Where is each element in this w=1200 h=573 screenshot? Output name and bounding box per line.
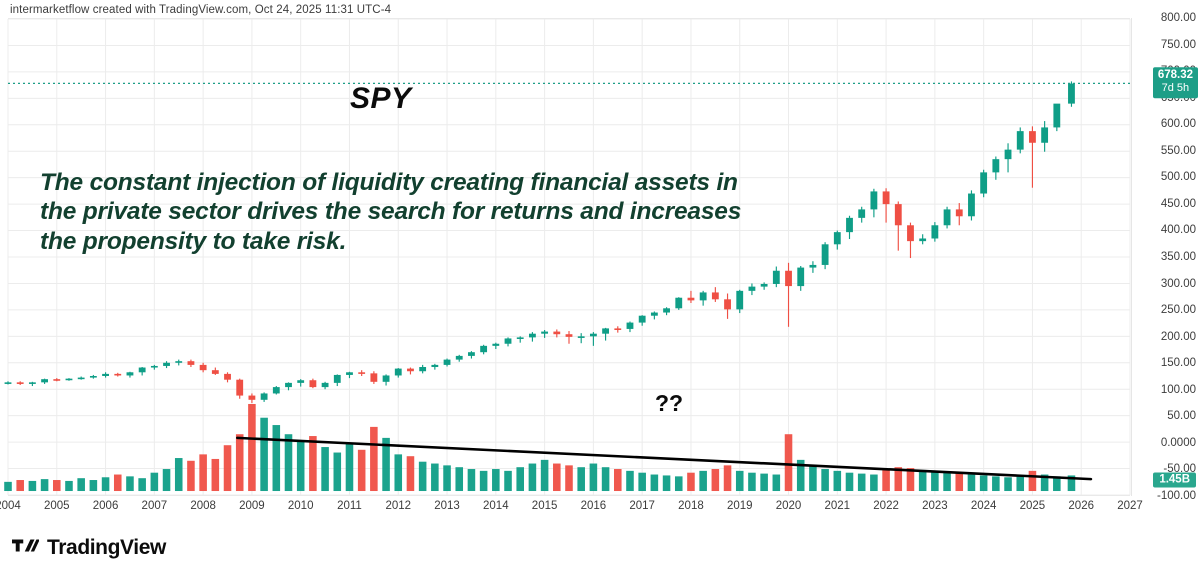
volume-bar xyxy=(821,469,829,491)
candle-body xyxy=(1029,131,1036,143)
candle-body xyxy=(346,372,353,375)
price-tick: 800.00 xyxy=(1161,12,1196,24)
date-tick: 2020 xyxy=(776,500,802,512)
volume-bar xyxy=(419,462,427,491)
volume-bar xyxy=(968,475,976,491)
date-tick: 2021 xyxy=(825,500,851,512)
volume-bar xyxy=(309,436,317,491)
candle-body xyxy=(5,382,12,384)
volume-bar xyxy=(65,481,73,491)
candle-body xyxy=(980,172,987,193)
candle-body xyxy=(956,209,963,216)
candle-body xyxy=(736,291,743,310)
volume-bar xyxy=(748,473,756,491)
candle-body xyxy=(566,334,573,337)
date-tick: 2023 xyxy=(922,500,948,512)
volume-bar xyxy=(102,477,110,491)
candle-body xyxy=(578,336,585,338)
volume-bar xyxy=(175,458,183,491)
date-tick: 2013 xyxy=(434,500,460,512)
candle-body xyxy=(114,374,121,376)
candle-body xyxy=(907,225,914,241)
volume-bar xyxy=(455,467,463,491)
volume-bar xyxy=(529,464,537,491)
volume-bar xyxy=(285,434,293,491)
volume-bar xyxy=(980,475,988,491)
date-tick: 2006 xyxy=(93,500,119,512)
date-tick: 2014 xyxy=(483,500,509,512)
candle-body xyxy=(383,375,390,381)
candle-body xyxy=(236,380,243,396)
volume-bar xyxy=(724,465,732,491)
candle-body xyxy=(724,299,731,309)
volume-bar xyxy=(321,447,329,491)
volume-bar xyxy=(346,443,354,491)
volume-bar xyxy=(687,473,695,491)
volume-bar xyxy=(297,441,305,491)
price-tick: 450.00 xyxy=(1161,198,1196,210)
candle-body xyxy=(90,376,97,378)
price-tick: 350.00 xyxy=(1161,251,1196,263)
date-tick: 2008 xyxy=(190,500,216,512)
tradingview-chart: intermarketflow created with TradingView… xyxy=(0,0,1200,573)
volume-bar xyxy=(151,473,159,491)
candle-body xyxy=(614,328,621,330)
date-tick: 2017 xyxy=(629,500,655,512)
candle-body xyxy=(822,244,829,265)
volume-bar xyxy=(955,474,963,491)
candle-body xyxy=(78,378,85,380)
volume-bar xyxy=(4,482,12,491)
candle-body xyxy=(809,265,816,268)
candle-body xyxy=(248,396,255,400)
volume-bar xyxy=(943,473,951,491)
candle-body xyxy=(273,387,280,393)
volume-value-badge[interactable]: 1.45B xyxy=(1153,473,1196,488)
date-tick: 2012 xyxy=(385,500,411,512)
volume-bar xyxy=(138,478,146,491)
volume-bar xyxy=(785,434,793,491)
volume-bar xyxy=(614,469,622,491)
volume-bar xyxy=(334,453,342,491)
price-tick: -100.00 xyxy=(1157,490,1196,502)
date-tick: 2015 xyxy=(532,500,558,512)
candle-body xyxy=(444,360,451,365)
candle-body xyxy=(407,369,414,372)
volume-bar xyxy=(541,460,549,491)
date-tick: 2026 xyxy=(1068,500,1094,512)
price-tick: 300.00 xyxy=(1161,278,1196,290)
volume-bar xyxy=(712,469,720,491)
candle-body xyxy=(322,383,329,387)
candle-body xyxy=(66,379,73,381)
candle-body xyxy=(151,366,158,368)
date-tick: 2009 xyxy=(239,500,265,512)
volume-bar xyxy=(273,425,281,491)
candle-body xyxy=(834,232,841,244)
volume-bar xyxy=(577,467,585,491)
candle-body xyxy=(663,308,670,312)
candle-body xyxy=(370,373,377,381)
volume-bar xyxy=(41,479,49,491)
date-tick: 2016 xyxy=(581,500,607,512)
volume-bar xyxy=(834,471,842,491)
candle-body xyxy=(395,369,402,376)
volume-bar xyxy=(77,478,85,491)
volume-bar xyxy=(224,445,232,491)
date-tick: 2004 xyxy=(0,500,21,512)
symbol-label: SPY xyxy=(350,82,412,116)
volume-bar xyxy=(882,469,890,491)
candle-body xyxy=(1005,150,1012,160)
tradingview-wordmark: TradingView xyxy=(47,536,166,560)
candle-body xyxy=(858,209,865,217)
volume-bar xyxy=(480,471,488,491)
price-plot-area[interactable] xyxy=(8,18,1130,496)
candle-body xyxy=(773,271,780,284)
candle-body xyxy=(931,225,938,238)
candle-body xyxy=(200,365,207,370)
price-tick: 250.00 xyxy=(1161,304,1196,316)
candle-body xyxy=(675,298,682,309)
volume-bar xyxy=(248,404,256,491)
candle-body xyxy=(127,372,134,375)
volume-bar xyxy=(602,467,610,491)
date-tick: 2027 xyxy=(1117,500,1143,512)
candle-body xyxy=(602,328,609,333)
volume-bar xyxy=(29,481,37,491)
volume-bar xyxy=(638,473,646,491)
volume-bar xyxy=(90,480,98,491)
date-tick: 2018 xyxy=(678,500,704,512)
volume-bar xyxy=(260,418,268,491)
volume-bar xyxy=(443,465,451,491)
candle-body xyxy=(749,287,756,291)
candle-body xyxy=(712,292,719,299)
date-tick: 2005 xyxy=(44,500,70,512)
candle-body xyxy=(334,375,341,383)
date-tick: 2010 xyxy=(288,500,314,512)
date-tick: 2007 xyxy=(142,500,168,512)
candle-body xyxy=(505,338,512,343)
candle-body xyxy=(846,218,853,232)
volume-bar xyxy=(114,475,122,491)
volume-bar xyxy=(565,465,573,491)
candle-body xyxy=(139,368,146,373)
volume-bar xyxy=(809,465,817,491)
price-tick: 550.00 xyxy=(1161,145,1196,157)
volume-bar xyxy=(1029,471,1037,491)
candle-body xyxy=(797,268,804,287)
price-tick: 50.00 xyxy=(1167,410,1196,422)
price-tick: 0.0000 xyxy=(1161,437,1196,449)
candle-body xyxy=(17,382,24,384)
candle-body xyxy=(870,191,877,209)
price-tick: 200.00 xyxy=(1161,331,1196,343)
candle-body xyxy=(968,194,975,217)
date-tick: 2011 xyxy=(337,500,362,512)
last-price-value: 678.32 xyxy=(1158,69,1193,81)
volume-bar xyxy=(16,480,24,491)
candle-body xyxy=(883,191,890,204)
volume-bar xyxy=(236,434,244,491)
candle-body xyxy=(1041,127,1048,142)
price-axis[interactable]: 800.00750.00700.00650.00600.00550.00500.… xyxy=(1131,18,1200,496)
volume-bar xyxy=(736,471,744,491)
volume-bar xyxy=(919,470,927,491)
candle-body xyxy=(212,370,219,374)
candle-body xyxy=(261,393,268,399)
volume-bar xyxy=(675,476,683,491)
quote-annotation: The constant injection of liquidity crea… xyxy=(40,168,780,256)
price-tick: 500.00 xyxy=(1161,171,1196,183)
volume-bar xyxy=(773,475,781,491)
candle-body xyxy=(1068,84,1075,104)
candle-body xyxy=(431,365,438,367)
candle-body xyxy=(163,363,170,366)
volume-bar xyxy=(760,474,768,491)
volume-bar xyxy=(516,467,524,491)
volume-bar xyxy=(626,471,634,491)
candle-body xyxy=(419,367,426,371)
date-tick: 2019 xyxy=(727,500,753,512)
volume-bar xyxy=(407,456,415,491)
date-tick: 2025 xyxy=(1020,500,1046,512)
volume-bar xyxy=(53,480,61,491)
price-tick: 750.00 xyxy=(1161,39,1196,51)
chart-canvas xyxy=(8,19,1130,495)
candle-body xyxy=(590,334,597,337)
candle-body xyxy=(188,361,195,365)
tradingview-brand: TradingView xyxy=(12,536,166,560)
candle-body xyxy=(529,334,536,338)
candle-body xyxy=(895,204,902,225)
chart-credit-text: intermarketflow created with TradingView… xyxy=(10,4,391,16)
volume-bar xyxy=(431,464,439,491)
candle-body xyxy=(541,332,548,334)
price-tick: 600.00 xyxy=(1161,118,1196,130)
candle-body xyxy=(651,313,658,316)
volume-bar xyxy=(1016,476,1024,491)
volume-bar xyxy=(663,475,671,491)
volume-bar xyxy=(651,475,659,491)
time-axis[interactable]: 2004200520062007200820092010201120122013… xyxy=(8,497,1130,523)
candle-body xyxy=(53,379,60,381)
last-price-badge[interactable]: 678.32 7d 5h xyxy=(1153,67,1198,99)
candle-body xyxy=(761,284,768,287)
candle-body xyxy=(639,316,646,323)
volume-bar xyxy=(163,469,171,491)
candle-body xyxy=(358,372,365,374)
candle-body xyxy=(553,332,560,335)
volume-bar xyxy=(931,471,939,491)
candle-body xyxy=(297,380,304,383)
candle-body xyxy=(700,292,707,300)
volume-bar xyxy=(468,469,476,491)
volume-bar xyxy=(187,461,195,491)
volume-bar xyxy=(992,476,1000,491)
volume-bar xyxy=(199,454,207,491)
volume-bar xyxy=(492,469,500,491)
tradingview-logo-icon xyxy=(12,536,39,560)
volume-bar xyxy=(212,459,220,491)
volume-bar xyxy=(370,427,378,491)
volume-bar xyxy=(846,473,854,491)
volume-bar xyxy=(858,474,866,491)
candle-body xyxy=(944,209,951,225)
candle-body xyxy=(224,374,231,380)
candle-body xyxy=(492,344,499,346)
candle-body xyxy=(309,380,316,387)
volume-bar xyxy=(870,475,878,491)
candle-body xyxy=(175,361,182,363)
price-tick: 150.00 xyxy=(1161,357,1196,369)
volume-bar xyxy=(126,476,134,491)
candle-body xyxy=(102,374,109,376)
volume-bar xyxy=(1004,477,1012,491)
volume-bar xyxy=(504,471,512,491)
candle-body xyxy=(1017,131,1024,150)
candle-body xyxy=(468,352,475,356)
bar-countdown: 7d 5h xyxy=(1158,82,1193,95)
price-tick: 100.00 xyxy=(1161,384,1196,396)
candle-body xyxy=(785,271,792,286)
candle-body xyxy=(41,379,48,382)
volume-bar xyxy=(358,450,366,491)
volume-bar xyxy=(394,454,402,491)
candle-body xyxy=(627,323,634,329)
candle-body xyxy=(29,382,36,384)
candle-body xyxy=(688,298,695,301)
volume-bar xyxy=(553,464,561,491)
candle-body xyxy=(919,238,926,241)
candle-body xyxy=(992,159,999,172)
candle-body xyxy=(517,337,524,339)
volume-bar xyxy=(590,464,598,491)
date-tick: 2022 xyxy=(873,500,899,512)
volume-bar xyxy=(699,471,707,491)
candle-body xyxy=(480,346,487,352)
date-tick: 2024 xyxy=(971,500,997,512)
question-mark-annotation: ?? xyxy=(655,390,683,417)
candle-body xyxy=(1053,104,1060,128)
price-tick: 400.00 xyxy=(1161,224,1196,236)
candle-body xyxy=(285,383,292,387)
candle-body xyxy=(456,356,463,360)
